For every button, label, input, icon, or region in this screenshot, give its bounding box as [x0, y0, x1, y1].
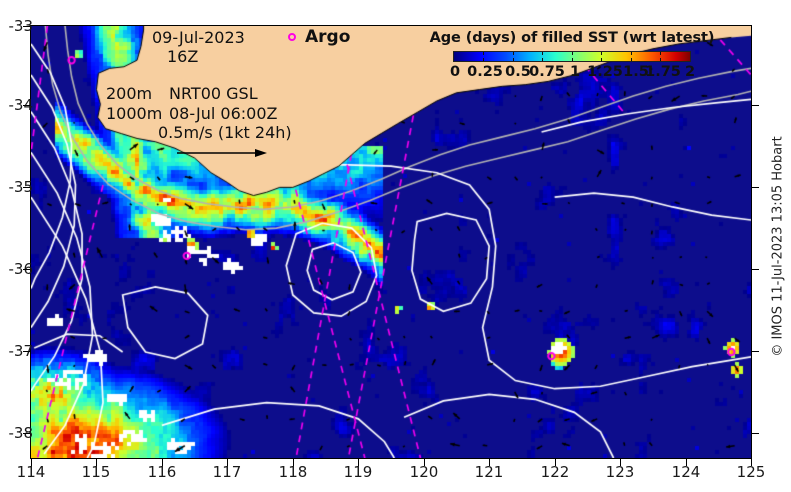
colorbar-tick-label: 0	[450, 64, 460, 80]
copyright-credit: © IMOS 11-Jul-2023 13:05 Hobart	[767, 0, 789, 492]
x-tick-mark	[686, 459, 687, 466]
x-tick-mark	[227, 459, 228, 466]
x-tick-mark	[751, 459, 752, 466]
figure-root: -33 -34 -35 -36 -37 -38 114 115 116 117 …	[0, 0, 791, 492]
y-tick-mark-right	[752, 433, 759, 434]
x-tick-mark	[162, 459, 163, 466]
colorbar-tick	[483, 58, 484, 61]
y-tick-mark-right	[752, 351, 759, 352]
y-tick-mark	[23, 26, 30, 27]
argo-legend-label: Argo	[305, 27, 350, 47]
x-tick-mark	[555, 459, 556, 466]
y-tick-mark	[23, 433, 30, 434]
colorbar-tick-label: 0.75	[529, 64, 565, 80]
colorbar-tick-label: 0.25	[467, 64, 503, 80]
colorbar-tick-labels: 0 0.25 0.5 0.75 1 1.25 1.5 1.75 2	[442, 64, 702, 82]
colorbar-tick-label: 0.5	[505, 64, 531, 80]
x-tick-mark	[620, 459, 621, 466]
x-tick-mark	[96, 459, 97, 466]
y-tick-mark-right	[752, 269, 759, 270]
x-tick-mark	[424, 459, 425, 466]
y-tick-mark-right	[752, 105, 759, 106]
colorbar-tick	[513, 52, 514, 55]
colorbar-gradient[interactable]	[453, 51, 691, 62]
argo-float-marker-icon	[288, 33, 296, 41]
annotation-product-time: 08-Jul 06:00Z	[169, 104, 277, 123]
colorbar-tick	[601, 52, 602, 55]
colorbar-tick	[542, 52, 543, 55]
x-tick-mark	[293, 459, 294, 466]
x-tick-mark	[31, 459, 32, 466]
colorbar-tick-label: 2	[685, 64, 695, 80]
colorbar-tick	[483, 52, 484, 55]
argo-legend: Argo	[288, 27, 350, 47]
colorbar-tick-label: 1.75	[645, 64, 681, 80]
annotation-date: 09-Jul-2023	[152, 28, 245, 47]
copyright-credit-text: © IMOS 11-Jul-2023 13:05 Hobart	[771, 136, 786, 356]
colorbar-tick-label: 1	[570, 64, 580, 80]
colorbar-tick	[660, 58, 661, 61]
colorbar-tick-label: 1.25	[587, 64, 623, 80]
annotation-depth-1000m: 1000m	[106, 104, 162, 123]
y-tick-mark-right	[752, 187, 759, 188]
y-tick-mark	[23, 351, 30, 352]
x-tick-mark	[489, 459, 490, 466]
colorbar: Age (days) of filled SST (wrt latest) 0 …	[427, 30, 717, 82]
colorbar-tick	[601, 58, 602, 61]
annotation-velocity-scale: 0.5m/s (1kt 24h)	[158, 123, 292, 142]
colorbar-tick	[513, 58, 514, 61]
annotation-depth-200m: 200m	[106, 84, 152, 103]
y-tick-mark	[23, 105, 30, 106]
colorbar-tick	[572, 58, 573, 61]
x-tick-mark	[358, 459, 359, 466]
y-tick-mark	[23, 269, 30, 270]
y-tick-mark	[23, 187, 30, 188]
annotation-product: NRT00 GSL	[169, 84, 258, 103]
colorbar-tick	[660, 52, 661, 55]
colorbar-tick	[542, 58, 543, 61]
colorbar-tick	[572, 52, 573, 55]
colorbar-tick	[631, 58, 632, 61]
colorbar-title: Age (days) of filled SST (wrt latest)	[427, 30, 717, 46]
annotation-time: 16Z	[167, 47, 198, 66]
colorbar-tick	[631, 52, 632, 55]
velocity-scale-arrow-icon	[175, 147, 267, 159]
